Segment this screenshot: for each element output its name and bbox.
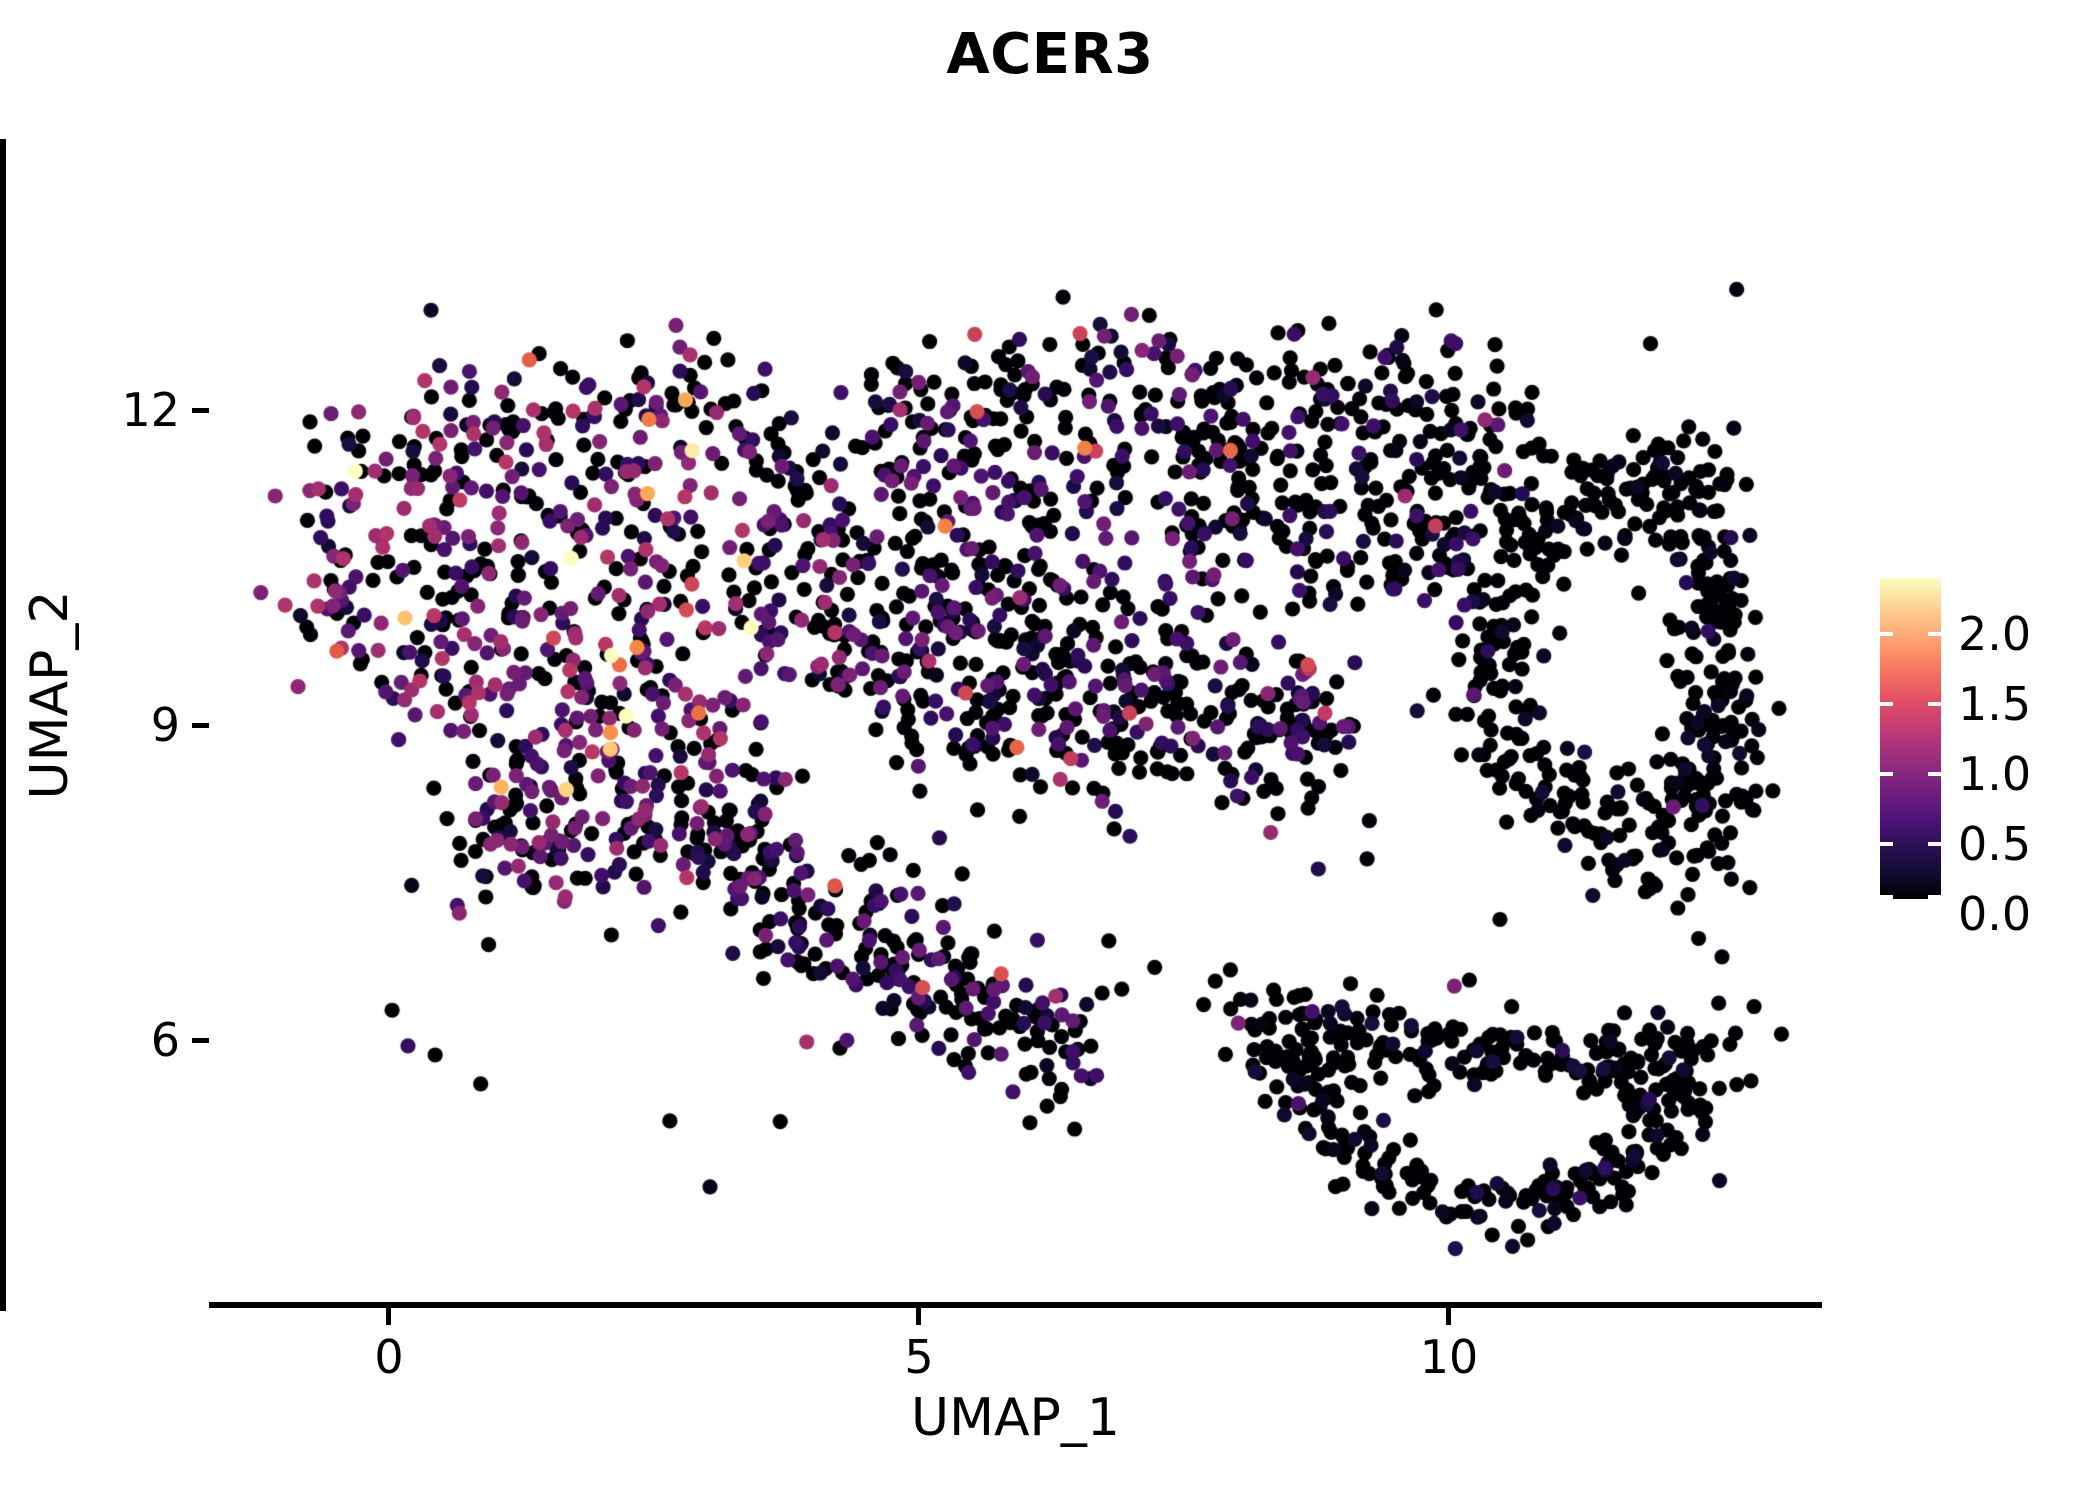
colorbar-tick-label: 2.0 bbox=[1958, 607, 2031, 661]
x-tick-label: 5 bbox=[839, 1330, 999, 1384]
x-tick-mark bbox=[1446, 1308, 1451, 1325]
colorbar-tick-label: 1.0 bbox=[1958, 747, 2031, 801]
y-tick-mark bbox=[192, 723, 209, 728]
colorbar-tick-label: 1.5 bbox=[1958, 677, 2031, 731]
y-axis-spine bbox=[0, 139, 6, 1311]
y-axis-label: UMAP_2 bbox=[20, 315, 80, 1075]
y-tick-mark bbox=[192, 1038, 209, 1043]
x-tick-mark bbox=[916, 1308, 921, 1325]
scatter-plot-canvas bbox=[0, 0, 2100, 1500]
colorbar: 2.0 1.5 1.0 0.5 0.0 bbox=[1880, 578, 2100, 908]
colorbar-tick-label: 0.5 bbox=[1958, 817, 2031, 871]
y-tick-mark bbox=[192, 408, 209, 413]
x-tick-label: 10 bbox=[1369, 1330, 1529, 1384]
colorbar-gradient bbox=[1880, 578, 1941, 899]
x-axis-label: UMAP_1 bbox=[209, 1388, 1822, 1448]
umap-feature-plot: ACER3 12 9 6 0 5 10 UMAP_1 UMAP_2 2.0 1.… bbox=[0, 0, 2100, 1500]
x-axis-spine bbox=[209, 1302, 1822, 1308]
colorbar-tick-label: 0.0 bbox=[1958, 887, 2031, 941]
x-tick-mark bbox=[386, 1308, 391, 1325]
x-tick-label: 0 bbox=[309, 1330, 469, 1384]
